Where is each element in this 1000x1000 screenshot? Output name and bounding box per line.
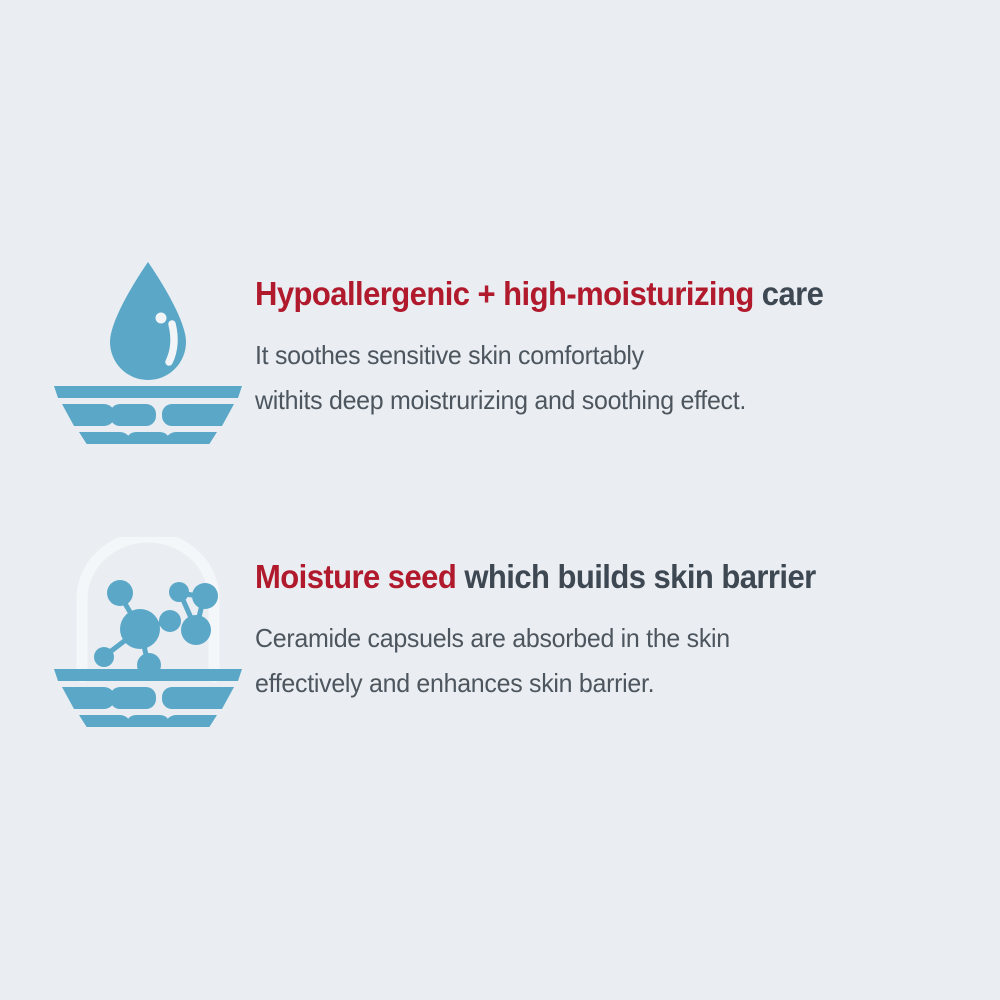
skin-layer-bowl [54,669,242,727]
feature-block-hypoallergenic: Hypoallergenic + high-moisturizing care … [40,250,1000,444]
heading-rest: care [754,275,824,312]
promo-page: Hypoallergenic + high-moisturizing care … [0,0,1000,1000]
heading-highlight: Moisture seed [255,558,456,595]
feature-text-moisture-seed: Moisture seed which builds skin barrier … [255,533,1000,705]
body-line: It soothes sensitive skin comfortably [255,333,970,378]
body-line: effectively and enhances skin barrier. [255,661,970,706]
feature-block-moisture-seed: Moisture seed which builds skin barrier … [40,533,1000,727]
droplet-shape [110,262,186,380]
body-line: Ceramide capsuels are absorbed in the sk… [255,616,970,661]
molecule-dome-on-skin-layer-icon [48,537,248,727]
feature-text-hypoallergenic: Hypoallergenic + high-moisturizing care … [255,250,1000,422]
feature-heading: Hypoallergenic + high-moisturizing care [255,276,955,313]
water-drop-on-skin-layer-icon [48,254,248,444]
icon-water-drop-on-skin-layer [40,250,255,444]
feature-body: It soothes sensitive skin comfortably wi… [255,333,970,422]
feature-heading: Moisture seed which builds skin barrier [255,559,955,596]
heading-highlight: Hypoallergenic + high-moisturizing [255,275,754,312]
skin-layer-bowl [54,386,242,444]
body-line: withits deep moistrurizing and soothing … [255,378,970,423]
icon-molecule-dome-on-skin-layer [40,533,255,727]
molecule-cluster-left [94,580,181,677]
heading-rest: which builds skin barrier [456,558,815,595]
feature-body: Ceramide capsuels are absorbed in the sk… [255,616,970,705]
